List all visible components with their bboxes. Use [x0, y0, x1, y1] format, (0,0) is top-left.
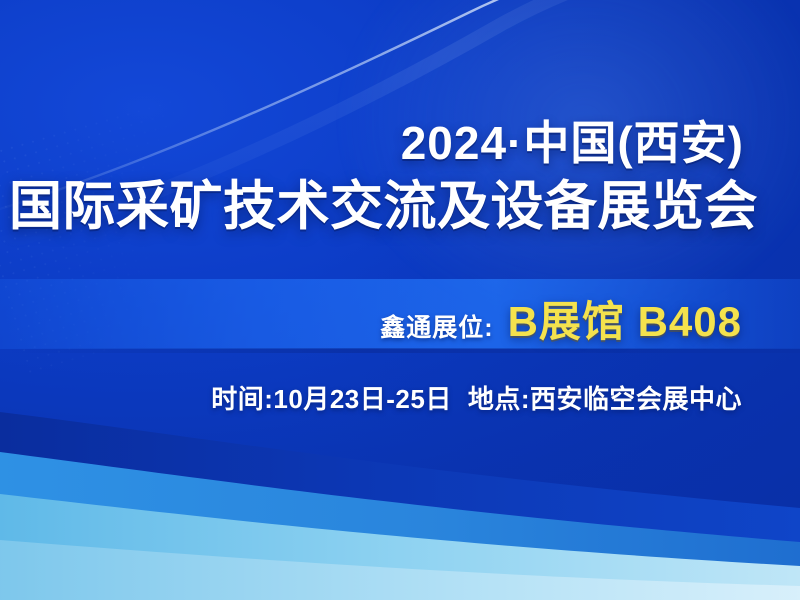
- booth-row: 鑫通展位: B展馆 B408: [0, 288, 742, 349]
- event-time: 时间:10月23日-25日: [211, 384, 452, 414]
- page-title-line-1: 2024·中国(西安): [0, 120, 744, 166]
- poster-content: 2024·中国(西安) 国际采矿技术交流及设备展览会 鑫通展位: B展馆 B40…: [0, 0, 800, 600]
- event-place: 地点:西安临空会展中心: [468, 384, 742, 414]
- page-title-line-2: 国际采矿技术交流及设备展览会: [0, 180, 758, 233]
- booth-number: B展馆 B408: [508, 288, 742, 349]
- event-meta-row: 时间:10月23日-25日地点:西安临空会展中心: [0, 379, 742, 416]
- event-poster: 2024·中国(西安) 国际采矿技术交流及设备展览会 鑫通展位: B展馆 B40…: [0, 0, 800, 600]
- booth-label: 鑫通展位:: [380, 308, 493, 344]
